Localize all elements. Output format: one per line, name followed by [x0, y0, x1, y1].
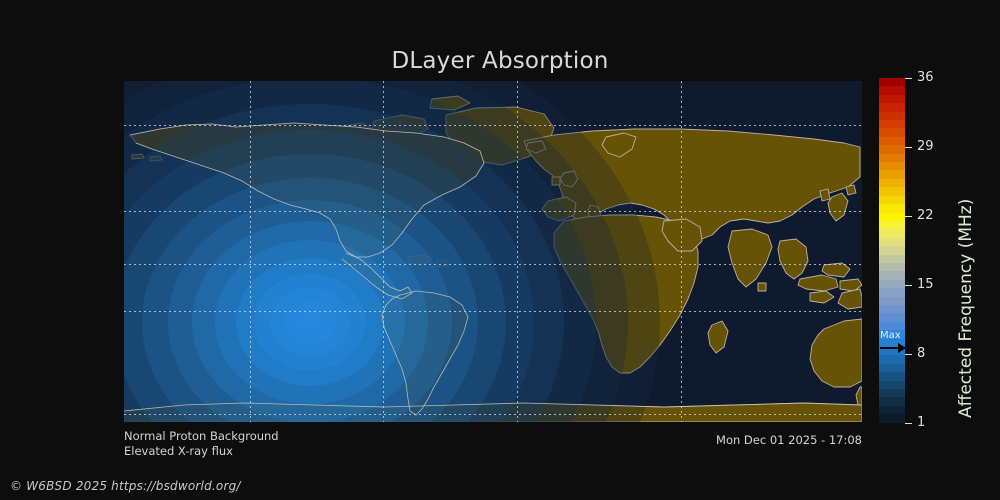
colorbar-segment: [879, 305, 905, 313]
colorbar-segment: [879, 196, 905, 204]
page-title: DLayer Absorption: [0, 48, 1000, 74]
colorbar-tick: 29: [905, 140, 934, 154]
colorbar-segment: [879, 103, 905, 111]
colorbar-segment: [879, 414, 905, 422]
xray-status-text: Elevated X-ray flux: [124, 444, 279, 459]
map-panel[interactable]: [124, 81, 862, 422]
colorbar-tick-mark: [905, 216, 912, 217]
colorbar-tick-label: 29: [917, 140, 934, 154]
colorbar-segment: [879, 162, 905, 170]
colorbar-segment: [879, 288, 905, 296]
colorbar-segment: [879, 330, 905, 338]
proton-status-text: Normal Proton Background: [124, 429, 279, 444]
colorbar-segment: [879, 364, 905, 372]
colorbar-segment: [879, 322, 905, 330]
page-root: DLayer Absorption: [0, 0, 1000, 500]
colorbar-tick-label: 8: [917, 347, 925, 361]
colorbar-segment: [879, 204, 905, 212]
colorbar-segment: [879, 271, 905, 279]
colorbar-tick: 8: [905, 347, 925, 361]
timestamp: Mon Dec 01 2025 - 17:08: [716, 433, 862, 448]
colorbar-segment: [879, 120, 905, 128]
colorbar-segment: [879, 187, 905, 195]
colorbar-segment: [879, 78, 905, 86]
colorbar-segment: [879, 95, 905, 103]
colorbar-tick-label: 15: [917, 278, 934, 292]
colorbar-tick-label: 22: [917, 209, 934, 223]
colorbar-tick-mark: [905, 285, 912, 286]
colorbar-segment: [879, 297, 905, 305]
colorbar-segment: [879, 229, 905, 237]
colorbar-segment: [879, 397, 905, 405]
colorbar-segment: [879, 86, 905, 94]
colorbar-segment: [879, 263, 905, 271]
colorbar-tick-label: 36: [917, 71, 934, 85]
absorption-overlay: [124, 81, 660, 422]
status-notes: Normal Proton Background Elevated X-ray …: [124, 429, 279, 459]
colorbar[interactable]: [879, 78, 905, 423]
colorbar-tick-mark: [905, 78, 912, 79]
colorbar-segment: [879, 145, 905, 153]
colorbar-segment: [879, 170, 905, 178]
colorbar-axis-label: Affected Frequency (MHz): [956, 199, 976, 418]
colorbar-segment: [879, 381, 905, 389]
colorbar-segment: [879, 128, 905, 136]
colorbar-tick-mark: [905, 354, 912, 355]
colorbar-segment: [879, 313, 905, 321]
colorbar-segment: [879, 339, 905, 347]
colorbar-segment: [879, 137, 905, 145]
colorbar-segment: [879, 154, 905, 162]
colorbar-tick: 22: [905, 209, 934, 223]
colorbar-segment: [879, 372, 905, 380]
colorbar-tick-label: 1: [917, 416, 925, 430]
colorbar-segment: [879, 355, 905, 363]
colorbar-segment: [879, 213, 905, 221]
colorbar-segment: [879, 246, 905, 254]
colorbar-segment: [879, 179, 905, 187]
colorbar-tick-mark: [905, 423, 912, 424]
colorbar-segment: [879, 112, 905, 120]
colorbar-segment: [879, 389, 905, 397]
colorbar-tick: 36: [905, 71, 934, 85]
colorbar-segment: [879, 347, 905, 355]
colorbar-segment: [879, 221, 905, 229]
colorbar-tick: 1: [905, 416, 925, 430]
colorbar-gradient: [879, 78, 905, 423]
colorbar-segment: [879, 255, 905, 263]
colorbar-segment: [879, 238, 905, 246]
colorbar-tick-mark: [905, 147, 912, 148]
credit-text: © W6BSD 2025 https://bsdworld.org/: [10, 479, 241, 493]
colorbar-tick: 15: [905, 278, 934, 292]
colorbar-segment: [879, 280, 905, 288]
colorbar-segment: [879, 406, 905, 414]
world-absorption-map: [124, 81, 862, 422]
